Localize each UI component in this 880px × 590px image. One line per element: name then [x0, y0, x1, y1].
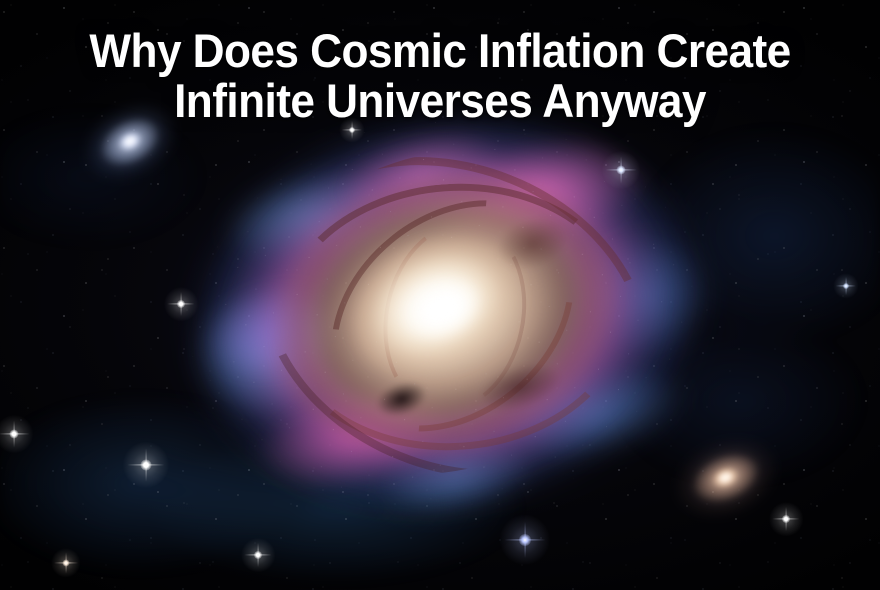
companion-galaxy-upper-left [70, 99, 190, 185]
companion-galaxy-lower-right [661, 432, 791, 524]
banner-image: Why Does Cosmic Inflation Create Infinit… [0, 0, 880, 590]
